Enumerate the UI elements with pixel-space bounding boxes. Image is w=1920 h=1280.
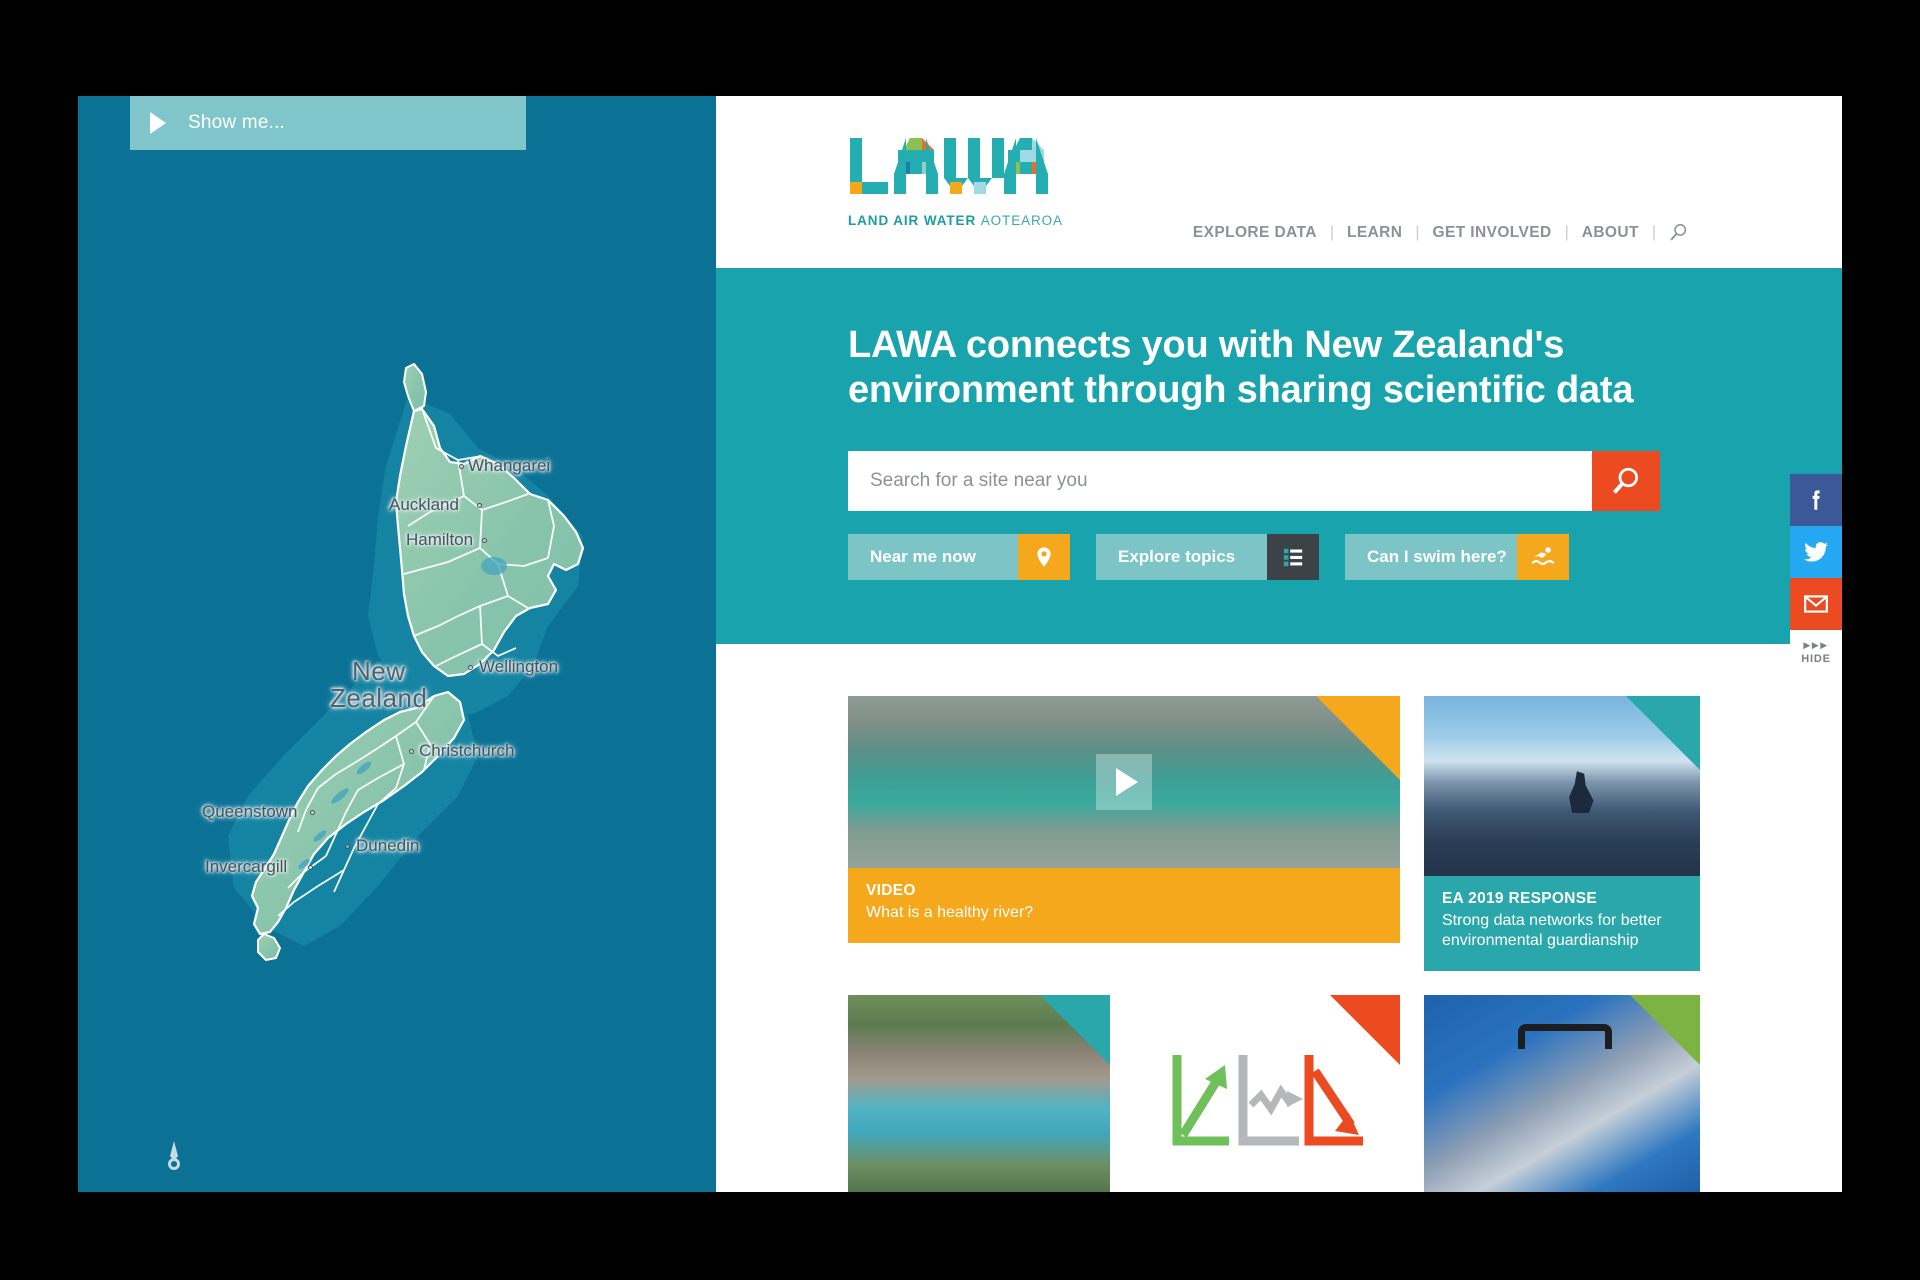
nav-item-learn[interactable]: LEARN — [1334, 224, 1415, 242]
card-media — [1134, 995, 1400, 1192]
city-dot-auckland — [477, 503, 482, 508]
swimmer-icon — [1517, 534, 1569, 580]
content-card-grid: VIDEO What is a healthy river? EA 2019 R… — [716, 644, 1706, 1192]
card-media — [1424, 696, 1700, 876]
nav-item-about[interactable]: ABOUT — [1569, 224, 1652, 242]
card-media — [848, 696, 1400, 868]
card-video-healthy-river[interactable]: VIDEO What is a healthy river? — [848, 696, 1400, 971]
search-icon[interactable] — [1656, 223, 1694, 242]
site-search-form[interactable] — [848, 451, 1660, 511]
facebook-icon[interactable] — [1790, 474, 1842, 526]
card-kicker: EA 2019 RESPONSE — [1442, 890, 1682, 908]
hide-social-rail-button[interactable]: ▶▶▶ HIDE — [1790, 630, 1842, 676]
show-me-panel-toggle[interactable]: Show me... — [130, 96, 526, 150]
envelope-icon[interactable] — [1790, 578, 1842, 630]
card-ea-2019-response[interactable]: EA 2019 RESPONSE Strong data networks fo… — [1424, 696, 1700, 971]
near-me-now-label: Near me now — [848, 547, 1018, 567]
hero-banner: LAWA connects you with New Zealand's env… — [716, 268, 1842, 644]
lawa-tagline: LAND AIR WATER AOTEAROA — [848, 213, 1070, 228]
city-dot-invercargill — [308, 865, 313, 870]
corner-accent-triangle — [1316, 696, 1400, 780]
list-icon — [1267, 534, 1319, 580]
social-share-rail[interactable]: ▶▶▶ HIDE — [1790, 474, 1842, 676]
lawa-logo[interactable]: LAND AIR WATER AOTEAROA — [848, 136, 1070, 228]
magnifier-icon — [1611, 466, 1641, 496]
hide-label: HIDE — [1801, 653, 1830, 665]
card-row-secondary — [848, 995, 1400, 1192]
city-dot-wellington — [468, 665, 473, 670]
lawa-logomark-icon — [848, 136, 1060, 206]
card-title: Strong data networks for better environm… — [1442, 911, 1682, 951]
play-triangle-icon — [150, 112, 166, 134]
website-content-pane: LAND AIR WATER AOTEAROA EXPLORE DATA | L… — [716, 96, 1842, 1192]
search-submit-button[interactable] — [1592, 451, 1660, 511]
card-monitoring-equipment[interactable] — [1424, 995, 1700, 1192]
envelope-glyph — [1803, 591, 1829, 617]
tagline-bold: LAND AIR WATER — [848, 213, 981, 228]
nav-item-get-involved[interactable]: GET INVOLVED — [1420, 224, 1565, 242]
corner-accent-triangle — [1626, 696, 1700, 770]
compass-north-icon — [164, 1140, 184, 1174]
corner-accent-triangle — [1330, 995, 1400, 1065]
video-play-button[interactable] — [1096, 754, 1152, 810]
twitter-glyph — [1803, 539, 1829, 565]
city-dot-christchurch — [409, 749, 414, 754]
card-media — [1424, 995, 1700, 1192]
play-triangle-icon — [1116, 768, 1138, 796]
hide-arrows-icon: ▶▶▶ — [1803, 641, 1828, 650]
explore-topics-label: Explore topics — [1096, 547, 1267, 567]
card-river-valley[interactable] — [848, 995, 1110, 1192]
silhouette-figure — [1568, 771, 1594, 813]
city-dot-whangarei — [459, 464, 464, 469]
show-me-label: Show me... — [188, 112, 285, 134]
nav-item-explore-data[interactable]: EXPLORE DATA — [1180, 224, 1330, 242]
search-input[interactable] — [848, 451, 1592, 511]
card-kicker: VIDEO — [866, 882, 1382, 900]
explore-topics-button[interactable]: Explore topics — [1096, 534, 1319, 580]
map-pin-icon — [1018, 534, 1070, 580]
new-zealand-map[interactable] — [78, 96, 716, 1192]
city-dot-hamilton — [482, 538, 487, 543]
corner-accent-triangle — [1630, 995, 1700, 1065]
map-pane[interactable]: Whangarei Auckland Hamilton Wellington C… — [78, 96, 716, 1192]
facebook-glyph — [1803, 487, 1829, 513]
twitter-bird-icon[interactable] — [1790, 526, 1842, 578]
corner-accent-triangle — [1040, 995, 1110, 1065]
city-dot-dunedin — [345, 844, 350, 849]
tablet-device-frame: Whangarei Auckland Hamilton Wellington C… — [0, 0, 1920, 1280]
page-title: LAWA connects you with New Zealand's env… — [848, 323, 1800, 413]
quick-action-buttons[interactable]: Near me now Explore topics — [848, 534, 1800, 580]
tablet-screen: Whangarei Auckland Hamilton Wellington C… — [78, 96, 1842, 1192]
near-me-now-button[interactable]: Near me now — [848, 534, 1070, 580]
card-title: What is a healthy river? — [866, 903, 1382, 923]
city-dot-queenstown — [310, 810, 315, 815]
card-media — [848, 995, 1110, 1192]
can-i-swim-here-button[interactable]: Can I swim here? — [1345, 534, 1569, 580]
main-navigation[interactable]: EXPLORE DATA | LEARN | GET INVOLVED | AB… — [1180, 223, 1694, 242]
site-header: LAND AIR WATER AOTEAROA EXPLORE DATA | L… — [716, 96, 1842, 268]
card-body: VIDEO What is a healthy river? — [848, 868, 1400, 943]
tagline-light: AOTEAROA — [981, 213, 1063, 228]
map-pin-glyph — [1033, 546, 1055, 568]
card-trends-chart[interactable] — [1134, 995, 1400, 1192]
can-i-swim-here-label: Can I swim here? — [1345, 547, 1517, 567]
list-glyph — [1282, 546, 1304, 568]
card-body: EA 2019 RESPONSE Strong data networks fo… — [1424, 876, 1700, 971]
equipment-handle — [1518, 1024, 1612, 1049]
swimmer-glyph — [1531, 545, 1555, 569]
magnifier-glyph — [1669, 223, 1688, 242]
